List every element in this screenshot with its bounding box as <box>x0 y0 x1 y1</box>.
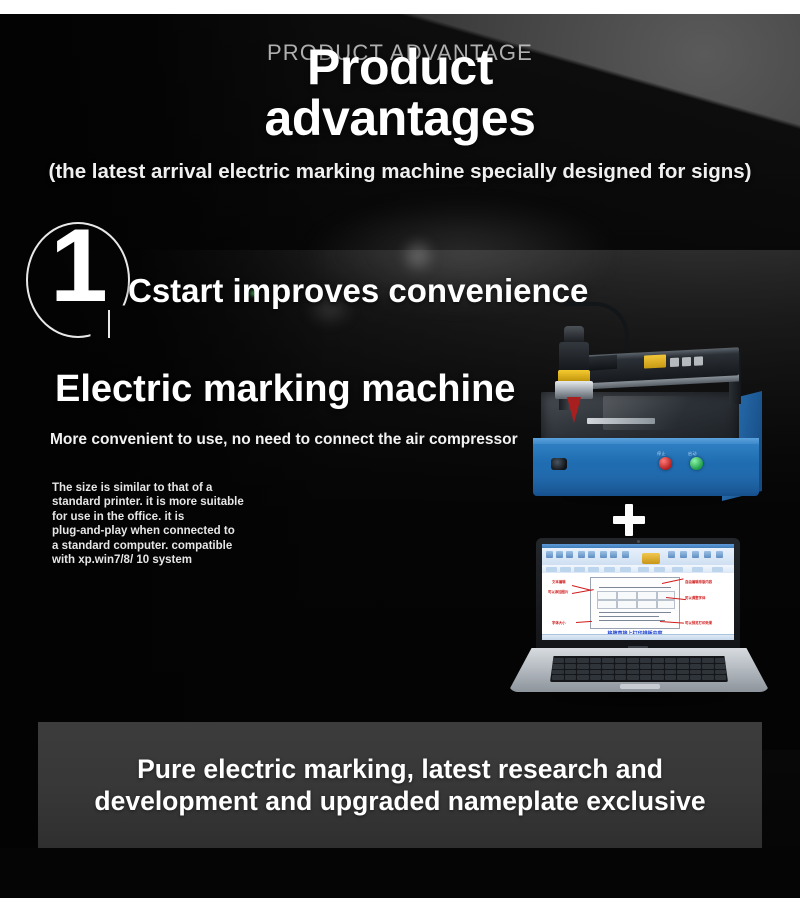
toolbar-icon <box>556 551 563 558</box>
document-rule <box>599 587 671 588</box>
key <box>652 658 664 663</box>
key <box>565 658 577 663</box>
key <box>615 664 627 669</box>
key <box>590 658 602 663</box>
toolbar2-icon <box>560 567 571 572</box>
key <box>565 664 577 669</box>
laptop-screen: 文本编辑 可以添加图片 自由编辑排版内容 可以调整字体 字体大小 可以预览打印效… <box>542 544 734 640</box>
laptop-trackpad <box>620 684 660 689</box>
key <box>640 664 652 669</box>
key <box>552 658 564 663</box>
machine-base <box>533 444 759 496</box>
software-annotation: 可以添加图片 <box>548 589 568 594</box>
machine-stop-button <box>659 457 672 470</box>
key <box>690 658 702 663</box>
panel-indicator-icon <box>682 357 691 366</box>
key <box>702 658 714 663</box>
key <box>652 675 664 680</box>
key <box>577 664 589 669</box>
toolbar-icon <box>546 551 553 558</box>
key <box>640 658 652 663</box>
toolbar-icon <box>610 551 617 558</box>
software-annotation: 可以调整字体 <box>685 595 705 600</box>
key <box>602 664 614 669</box>
document-rule <box>599 612 671 613</box>
toolbar-icon <box>566 551 573 558</box>
key <box>665 658 677 663</box>
key <box>590 675 602 680</box>
key <box>577 675 589 680</box>
banner-text: Pure electric marking, latest research a… <box>38 753 762 817</box>
key <box>627 664 639 669</box>
document-rule <box>599 620 665 621</box>
body-copy-line: a standard computer. compatible <box>52 539 322 553</box>
key <box>565 675 577 680</box>
toolbar2-icon <box>574 567 585 572</box>
toolbar-icon <box>680 551 687 558</box>
key <box>665 664 677 669</box>
laptop-camera-icon <box>637 540 640 543</box>
key <box>640 670 652 675</box>
machine-marking-head <box>547 326 603 436</box>
toolbar-icon <box>622 551 629 558</box>
software-annotation: 自由编辑排版内容 <box>685 579 712 584</box>
key <box>690 664 702 669</box>
key <box>652 664 664 669</box>
toolbar-icon <box>600 551 607 558</box>
toolbar2-icon <box>588 567 599 572</box>
body-copy-line: for use in the office. it is <box>52 510 322 524</box>
toolbar-highlight-icon <box>642 553 660 564</box>
bottom-black-strip <box>0 848 800 898</box>
document-cell <box>617 600 637 609</box>
key <box>577 670 589 675</box>
body-copy-line: with xp.win7/8/ 10 system <box>52 553 322 567</box>
toolbar2-icon <box>604 567 615 572</box>
banner-line-1: Pure electric marking, latest research a… <box>38 753 762 785</box>
machine-control-panel <box>670 355 710 368</box>
document-cell <box>617 591 637 600</box>
key <box>690 670 702 675</box>
laptop-photo: 文本编辑 可以添加图片 自由编辑排版内容 可以调整字体 字体大小 可以预览打印效… <box>508 538 770 710</box>
key <box>715 658 727 663</box>
body-copy-line: The size is similar to that of a <box>52 481 322 495</box>
body-copy-line: plug-and-play when connected to <box>52 524 322 538</box>
machine-tray-reflection <box>603 396 713 430</box>
top-white-strip <box>0 0 800 14</box>
key <box>627 658 639 663</box>
key <box>677 675 689 680</box>
toolbar2-icon <box>638 567 649 572</box>
product-advantage-poster: PRODUCT ADVANTAGE Product advantages (th… <box>0 0 800 898</box>
machine-start-button <box>690 457 703 470</box>
page-title-line-1: Product <box>0 42 800 93</box>
software-annotation: 字体大小 <box>552 620 566 625</box>
toolbar2-icon <box>672 567 683 572</box>
badge-number: 1 <box>50 214 105 318</box>
document-cell <box>657 600 675 609</box>
toolbar2-icon <box>654 567 665 572</box>
key <box>677 658 689 663</box>
toolbar-icon <box>704 551 711 558</box>
key <box>602 658 614 663</box>
laptop-keyboard <box>550 656 728 682</box>
toolbar-icon <box>578 551 585 558</box>
toolbar-icon <box>588 551 595 558</box>
document-cell <box>637 591 657 600</box>
key <box>627 670 639 675</box>
key <box>615 670 627 675</box>
key <box>715 664 727 669</box>
key <box>552 664 564 669</box>
key <box>652 670 664 675</box>
toolbar2-icon <box>620 567 631 572</box>
machine-brand-logo-icon <box>644 354 666 368</box>
key <box>677 670 689 675</box>
key <box>615 658 627 663</box>
key <box>702 675 714 680</box>
key <box>715 670 727 675</box>
key <box>715 675 727 680</box>
plus-icon <box>613 504 645 536</box>
key <box>627 675 639 680</box>
toolbar2-icon <box>546 567 557 572</box>
panel-indicator-icon <box>694 356 703 365</box>
key <box>702 664 714 669</box>
key <box>565 670 577 675</box>
key <box>665 670 677 675</box>
software-statusbar <box>542 634 734 640</box>
toolbar-icon <box>668 551 675 558</box>
software-annotation: 可以预览打印效果 <box>685 620 712 625</box>
key <box>602 675 614 680</box>
page-subtitle: (the latest arrival electric marking mac… <box>0 160 800 184</box>
key <box>552 670 564 675</box>
document-cell <box>597 600 617 609</box>
key <box>590 670 602 675</box>
body-copy-line: standard printer. it is more suitable <box>52 495 322 509</box>
machine-marking-tip <box>567 397 581 423</box>
section-heading: Cstart improves convenience <box>128 272 588 310</box>
machine-port <box>551 458 567 470</box>
toolbar-icon <box>692 551 699 558</box>
banner-line-2: development and upgraded nameplate exclu… <box>38 785 762 817</box>
document-rule <box>599 616 659 617</box>
product-subtitle: More convenient to use, no need to conne… <box>50 431 518 449</box>
panel-indicator-icon <box>670 358 679 367</box>
key <box>577 658 589 663</box>
software-toolbar <box>542 548 734 566</box>
toolbar2-icon <box>692 567 703 572</box>
body-copy: The size is similar to that of a standar… <box>52 481 322 567</box>
key <box>590 664 602 669</box>
page-title: Product advantages <box>0 42 800 144</box>
key <box>702 670 714 675</box>
page-title-line-2: advantages <box>0 93 800 144</box>
bottom-banner: Pure electric marking, latest research a… <box>38 722 762 848</box>
key <box>690 675 702 680</box>
section-number-badge: 1 <box>26 218 141 343</box>
product-title: Electric marking machine <box>55 368 515 411</box>
toolbar-icon <box>716 551 723 558</box>
software-annotation: 文本编辑 <box>552 579 566 584</box>
key <box>665 675 677 680</box>
key <box>640 675 652 680</box>
key <box>552 675 564 680</box>
key <box>615 675 627 680</box>
document-cell <box>597 591 617 600</box>
key <box>602 670 614 675</box>
software-canvas: 文本编辑 可以添加图片 自由编辑排版内容 可以调整字体 字体大小 可以预览打印效… <box>542 573 734 640</box>
badge-tick-mark <box>108 310 110 338</box>
document-cell <box>637 600 657 609</box>
marking-machine-photo: 停止 启动 <box>507 326 792 501</box>
key <box>677 664 689 669</box>
toolbar2-icon <box>712 567 723 572</box>
laptop-lid: 文本编辑 可以添加图片 自由编辑排版内容 可以调整字体 字体大小 可以预览打印效… <box>536 538 740 651</box>
